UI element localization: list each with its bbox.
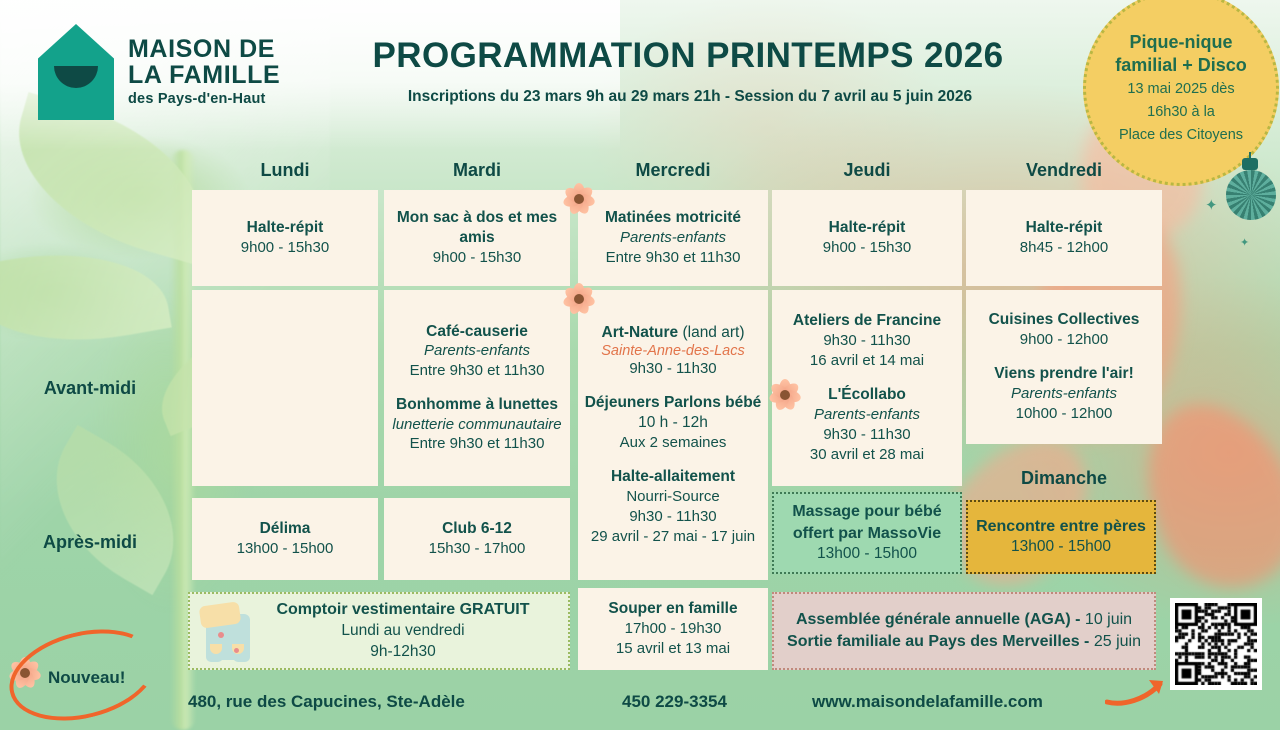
card-jeudi-morning-1[interactable]: Halte-répit 9h00 - 15h30 <box>772 190 962 286</box>
sparkle-icon-1: ✦ <box>1205 196 1218 214</box>
card-time: 15h30 - 17h00 <box>384 539 570 559</box>
event-line-1: Assemblée générale annuelle (AGA) - 10 j… <box>796 609 1132 631</box>
box-evenements-speciaux[interactable]: Assemblée générale annuelle (AGA) - 10 j… <box>772 592 1156 670</box>
baby-clothes-icon <box>198 600 258 662</box>
card-subtitle: Parents-enfants <box>578 228 768 248</box>
card-mercredi-morning-2[interactable]: Art-Nature (land art) Sainte-Anne-des-La… <box>578 290 768 580</box>
card-vendredi-morning-2[interactable]: Cuisines Collectives 9h00 - 12h00 Viens … <box>966 290 1162 444</box>
day-header-dimanche: Dimanche <box>966 468 1162 489</box>
card-time: 17h00 - 19h30 <box>578 619 768 639</box>
card-time: 9h00 - 15h30 <box>772 238 962 258</box>
card-title: Art-Nature (land art) <box>578 323 768 343</box>
comptoir-line-3: 9h-12h30 <box>322 642 436 663</box>
card-mercredi-afternoon[interactable]: Souper en famille 17h00 - 19h30 15 avril… <box>578 588 768 670</box>
card-entry-cafe-causerie: Café-causerie Parents-enfants Entre 9h30… <box>384 322 570 381</box>
card-title: Ateliers de Francine <box>772 311 962 331</box>
card-time: 9h30 - 11h30 <box>772 331 962 351</box>
box-rencontre-peres[interactable]: Rencontre entre pères 13h00 - 15h00 <box>966 500 1156 574</box>
box-massage-bebe[interactable]: Massage pour bébé offert par MassoVie 13… <box>772 492 962 574</box>
disco-ball-icon <box>1218 152 1280 222</box>
period-label-afternoon: Après-midi <box>0 532 180 553</box>
card-time: 9h00 - 15h30 <box>192 238 378 258</box>
page-subtitle: Inscriptions du 23 mars 9h au 29 mars 21… <box>340 88 1040 106</box>
card-subtitle: Nourri-Source <box>578 487 768 507</box>
card-location: Sainte-Anne-des-Lacs <box>578 343 768 359</box>
card-mardi-afternoon[interactable]: Club 6-12 15h30 - 17h00 <box>384 498 570 580</box>
massage-line-2: offert par MassoVie <box>793 523 941 545</box>
card-title: Bonhomme à lunettes <box>384 395 570 415</box>
comptoir-line-2: Lundi au vendredi <box>293 621 464 642</box>
logo-text: MAISON DE LA FAMILLE des Pays-d'en-Haut <box>128 37 280 107</box>
card-title: Mon sac à dos et mes amis <box>384 208 570 248</box>
logo: MAISON DE LA FAMILLE des Pays-d'en-Haut <box>38 24 280 120</box>
card-dates: 15 avril et 13 mai <box>578 639 768 659</box>
card-lundi-morning[interactable]: Halte-répit 9h00 - 15h30 <box>192 190 378 286</box>
period-label-morning: Avant-midi <box>0 378 180 399</box>
card-subtitle: lunetterie communautaire <box>384 415 570 435</box>
card-time: 13h00 - 15h00 <box>192 539 378 559</box>
page-title: PROGRAMMATION PRINTEMPS 2026 <box>352 36 1024 76</box>
day-header-jeudi: Jeudi <box>772 160 962 181</box>
card-time: 8h45 - 12h00 <box>966 238 1162 258</box>
day-header-vendredi: Vendredi <box>966 160 1162 181</box>
card-time: 9h00 - 15h30 <box>384 248 570 268</box>
card-time: Entre 9h30 et 11h30 <box>578 248 768 268</box>
card-title: Cuisines Collectives <box>966 310 1162 330</box>
card-title: Halte-répit <box>772 218 962 238</box>
card-mardi-morning-2[interactable]: Café-causerie Parents-enfants Entre 9h30… <box>384 290 570 486</box>
card-entry-viens-prendre-lair: Viens prendre l'air! Parents-enfants 10h… <box>966 364 1162 423</box>
card-subtitle: Parents-enfants <box>384 341 570 361</box>
card-time: 9h30 - 11h30 <box>772 425 962 445</box>
card-title: Viens prendre l'air! <box>966 364 1162 384</box>
footer-phone[interactable]: 450 229-3354 <box>622 692 727 712</box>
card-title: Matinées motricité <box>578 208 768 228</box>
footer-website[interactable]: www.maisondelafamille.com <box>812 692 1043 712</box>
flower-icon-2 <box>562 282 596 316</box>
day-header-mercredi: Mercredi <box>578 160 768 181</box>
card-time: Entre 9h30 et 11h30 <box>384 361 570 381</box>
badge-line-5: Place des Citoyens <box>1119 126 1243 145</box>
card-time: 9h00 - 12h00 <box>966 330 1162 350</box>
card-time: 10h00 - 12h00 <box>966 404 1162 424</box>
card-title: Halte-répit <box>966 218 1162 238</box>
card-lundi-afternoon[interactable]: Délima 13h00 - 15h00 <box>192 498 378 580</box>
day-header-mardi: Mardi <box>384 160 570 181</box>
logo-line-2: LA FAMILLE <box>128 63 280 89</box>
card-time: 9h30 - 11h30 <box>578 359 768 379</box>
card-entry-bonhomme-lunettes: Bonhomme à lunettes lunetterie communaut… <box>384 395 570 454</box>
comptoir-title: Comptoir vestimentaire GRATUIT <box>228 599 529 621</box>
event-line-2: Sortie familiale au Pays des Merveilles … <box>787 631 1141 653</box>
card-time: 9h30 - 11h30 <box>578 507 768 527</box>
badge-line-4: 16h30 à la <box>1147 103 1215 122</box>
card-title: Souper en famille <box>578 599 768 619</box>
rencontre-time: 13h00 - 15h00 <box>1011 537 1111 558</box>
house-icon <box>38 24 114 120</box>
massage-line-1: Massage pour bébé <box>792 501 941 523</box>
flower-icon-1 <box>562 182 596 216</box>
flower-icon-3 <box>768 378 802 412</box>
card-dates: 30 avril et 28 mai <box>772 445 962 465</box>
card-frequency: Aux 2 semaines <box>578 433 768 453</box>
card-entry-ateliers-francine: Ateliers de Francine 9h30 - 11h30 16 avr… <box>772 311 962 371</box>
badge-line-3: 13 mai 2025 dès <box>1127 80 1234 99</box>
card-title: Halte-allaitement <box>578 467 768 487</box>
card-lundi-morning-empty <box>192 290 378 486</box>
card-title: Déjeuners Parlons bébé 10 h - 12h <box>578 393 768 433</box>
card-title: Délima <box>192 519 378 539</box>
badge-line-2: familial + Disco <box>1115 54 1247 77</box>
logo-line-3: des Pays-d'en-Haut <box>128 92 280 107</box>
card-mercredi-morning-1[interactable]: Matinées motricité Parents-enfants Entre… <box>578 190 768 286</box>
card-vendredi-morning-1[interactable]: Halte-répit 8h45 - 12h00 <box>966 190 1162 286</box>
card-entry-art-nature: Art-Nature (land art) Sainte-Anne-des-La… <box>578 323 768 379</box>
nouveau-label: Nouveau! <box>48 668 125 688</box>
logo-line-1: MAISON DE <box>128 37 280 63</box>
badge-line-1: Pique-nique <box>1130 31 1233 54</box>
sparkle-icon-2: ✦ <box>1240 236 1249 249</box>
card-title: Halte-répit <box>192 218 378 238</box>
rencontre-title: Rencontre entre pères <box>976 516 1146 538</box>
card-subtitle: Parents-enfants <box>966 384 1162 404</box>
day-header-lundi: Lundi <box>192 160 378 181</box>
card-entry-cuisines-collectives: Cuisines Collectives 9h00 - 12h00 <box>966 310 1162 350</box>
arrow-to-qr-icon <box>1105 676 1169 706</box>
card-entry-halte-allaitement: Halte-allaitement Nourri-Source 9h30 - 1… <box>578 467 768 547</box>
card-title: Café-causerie <box>384 322 570 342</box>
footer-address: 480, rue des Capucines, Ste-Adèle <box>188 692 465 712</box>
massage-time: 13h00 - 15h00 <box>817 544 917 565</box>
card-mardi-morning-1[interactable]: Mon sac à dos et mes amis 9h00 - 15h30 <box>384 190 570 286</box>
card-entry-dejeuners-parlons-bebe: Déjeuners Parlons bébé 10 h - 12h Aux 2 … <box>578 393 768 453</box>
card-title: Club 6-12 <box>384 519 570 539</box>
card-dates: 16 avril et 14 mai <box>772 351 962 371</box>
card-dates: 29 avril - 27 mai - 17 juin <box>578 527 768 547</box>
card-time: Entre 9h30 et 11h30 <box>384 434 570 454</box>
qr-code[interactable] <box>1170 598 1262 690</box>
